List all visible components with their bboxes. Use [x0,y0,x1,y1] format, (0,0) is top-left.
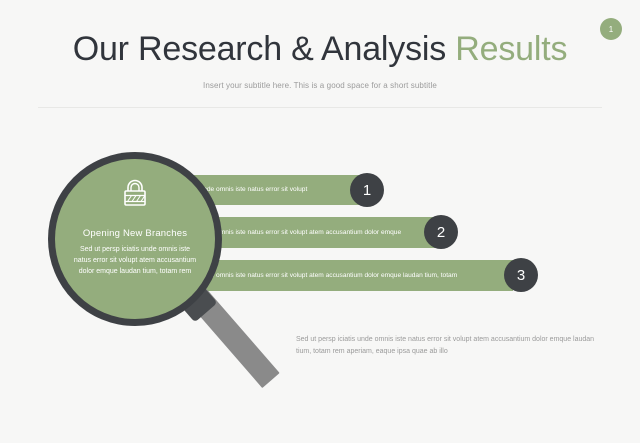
magnifier-lens[interactable]: Opening New Branches Sed ut persp iciati… [55,159,215,319]
magnifier-description: Sed ut persp iciatis unde omnis iste nat… [71,244,199,277]
magnifier-heading: Opening New Branches [83,228,187,239]
info-bar-3-number[interactable]: 3 [504,258,538,292]
footer-note: Sed ut persp iciatis unde omnis iste nat… [296,334,596,358]
page-title: Our Research & Analysis Results [0,30,640,69]
info-bar-1-number[interactable]: 1 [350,173,384,207]
page-subtitle: Insert your subtitle here. This is a goo… [0,81,640,90]
slide-canvas: 1 Our Research & Analysis Results Insert… [0,0,640,443]
info-bar-2-number[interactable]: 2 [424,215,458,249]
page-title-accent: Results [455,30,567,68]
padlock-icon [118,175,152,214]
page-title-main: Our Research & Analysis [73,30,456,68]
header-divider [38,107,602,108]
